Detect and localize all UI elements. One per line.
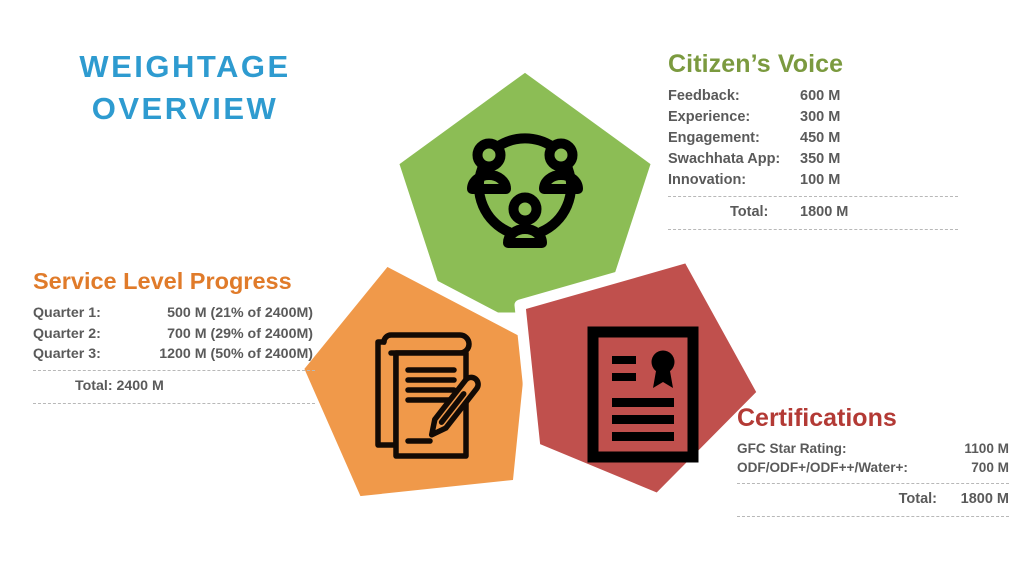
section-service-level: Service Level Progress Quarter 1: 500 M … — [33, 268, 315, 408]
divider — [668, 229, 958, 230]
list-item: ODF/ODF+/ODF++/Water+: 700 M — [737, 458, 1009, 478]
row-value: 1200 M (50% of 2400M) — [117, 344, 313, 365]
section-title-citizens-voice: Citizen’s Voice — [668, 50, 958, 79]
document-pen-icon — [378, 335, 481, 456]
infographic-canvas: WEIGHTAGE OVERVIEW — [0, 0, 1035, 567]
divider — [33, 403, 315, 404]
list-item: Innovation: 100 M — [668, 170, 958, 191]
row-value: 1100 M — [941, 439, 1009, 459]
total-value: 1800 M — [800, 201, 880, 224]
total-label: Total: — [730, 201, 800, 224]
section-citizens-voice: Citizen’s Voice Feedback: 600 M Experien… — [668, 50, 958, 234]
total-row: Total: 1800 M — [668, 201, 958, 224]
row-label: Innovation: — [668, 170, 800, 191]
page-title: WEIGHTAGE OVERVIEW — [40, 46, 330, 130]
list-item: Quarter 2: 700 M (29% of 2400M) — [33, 324, 315, 345]
section-title-certifications: Certifications — [737, 404, 1009, 433]
divider — [737, 483, 1009, 484]
row-label: Experience: — [668, 107, 800, 128]
section-rows-citizens-voice: Feedback: 600 M Experience: 300 M Engage… — [668, 86, 958, 191]
row-value: 100 M — [800, 170, 870, 191]
total-row: Total: 2400 M — [33, 375, 315, 398]
row-label: GFC Star Rating: — [737, 439, 941, 459]
row-label: Feedback: — [668, 86, 800, 107]
divider — [737, 516, 1009, 517]
list-item: Quarter 1: 500 M (21% of 2400M) — [33, 303, 315, 324]
list-item: Feedback: 600 M — [668, 86, 958, 107]
list-item: Quarter 3: 1200 M (50% of 2400M) — [33, 344, 315, 365]
pentagon-certifications[interactable] — [505, 250, 775, 510]
total-value: 1800 M — [937, 488, 1009, 511]
row-label: Swachhata App: — [668, 149, 800, 170]
list-item: Swachhata App: 350 M — [668, 149, 958, 170]
list-item: GFC Star Rating: 1100 M — [737, 439, 1009, 459]
divider — [668, 196, 958, 197]
page-title-line-2: OVERVIEW — [40, 88, 330, 130]
divider — [33, 370, 315, 371]
row-value: 700 M — [941, 458, 1009, 478]
section-title-service-level: Service Level Progress — [33, 268, 315, 295]
row-label: Quarter 2: — [33, 324, 117, 345]
row-label: ODF/ODF+/ODF++/Water+: — [737, 458, 941, 478]
section-certifications: Certifications GFC Star Rating: 1100 M O… — [737, 404, 1009, 521]
total-label: Total: — [873, 488, 937, 511]
row-value: 600 M — [800, 86, 870, 107]
pentagon-certifications-shape — [505, 250, 775, 510]
list-item: Engagement: 450 M — [668, 128, 958, 149]
section-rows-service-level: Quarter 1: 500 M (21% of 2400M) Quarter … — [33, 303, 315, 365]
row-value: 350 M — [800, 149, 870, 170]
row-label: Quarter 1: — [33, 303, 117, 324]
row-value: 450 M — [800, 128, 870, 149]
total-label: Total: 2400 M — [75, 375, 164, 398]
list-item: Experience: 300 M — [668, 107, 958, 128]
row-label: Engagement: — [668, 128, 800, 149]
row-value: 300 M — [800, 107, 870, 128]
total-row: Total: 1800 M — [737, 488, 1009, 511]
section-rows-certifications: GFC Star Rating: 1100 M ODF/ODF+/ODF++/W… — [737, 439, 1009, 478]
pentagon-shape-path — [520, 257, 763, 499]
row-value: 500 M (21% of 2400M) — [117, 303, 313, 324]
row-label: Quarter 3: — [33, 344, 117, 365]
page-title-line-1: WEIGHTAGE — [40, 46, 330, 88]
row-value: 700 M (29% of 2400M) — [117, 324, 313, 345]
